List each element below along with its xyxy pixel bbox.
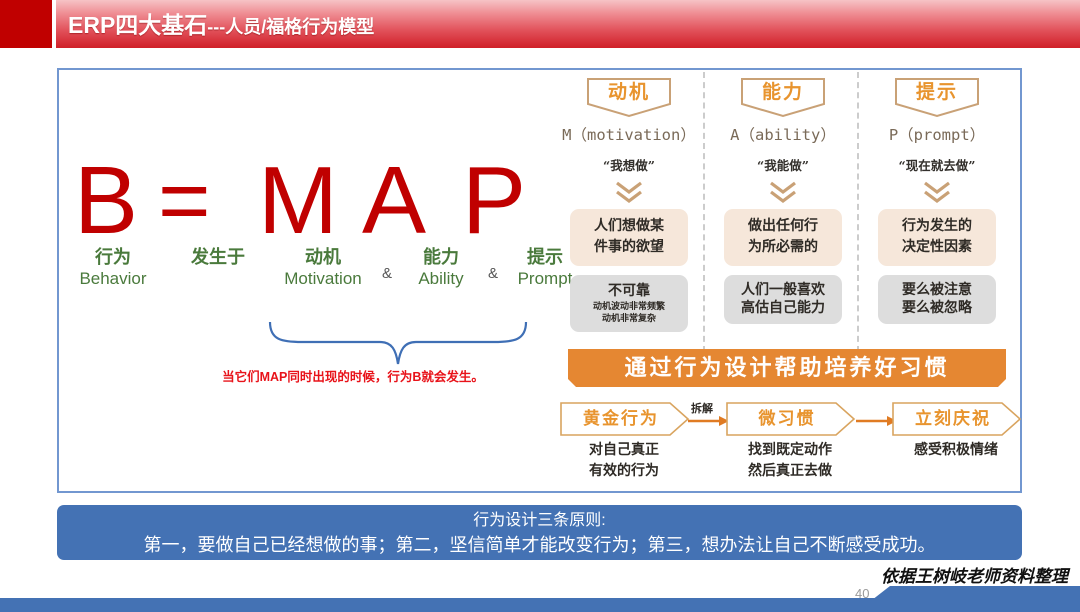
column-code-motivation: M（motivation） [554,123,704,145]
formula-label-occurs-cn: 发生于 [166,247,270,268]
column-negative-title-motivation: 不可靠 [608,283,650,299]
formula-letters-row: B = M A P [62,155,552,247]
flow-step-1-label: 黄金行为 [560,402,682,436]
habit-flow: 黄金行为 对自己真正有效的行为 拆解 微习惯 找到既定动作然后真正去做 立刻庆祝… [560,402,1020,492]
flow-step-1: 黄金行为 [560,402,690,436]
column-quote-ability: “我能做” [708,155,858,174]
column-negative-motivation: 不可靠 动机波动非常频繁动机非常复杂 [570,275,688,332]
column-banner-prompt: 提示 [893,76,981,118]
column-quote-motivation: “我想做” [554,155,704,174]
column-positive-prompt: 行为发生的决定性因素 [878,209,996,266]
page-title-sub: ---人员/福格行为模型 [207,17,374,37]
formula-label-behavior: 行为 Behavior [66,247,160,288]
column-negative-ability: 人们一般喜欢高估自己能力 [724,275,842,324]
orange-banner: 通过行为设计帮助培养好习惯 [568,349,1006,387]
formula-label-ability: 能力 Ability [398,247,484,288]
formula-label-behavior-en: Behavior [66,269,160,289]
header-left-accent-block [0,0,52,48]
formula-letter-a: A [362,155,424,247]
column-negative-detail-ability: 人们一般喜欢高估自己能力 [728,281,838,317]
column-motivation: 动机 M（motivation） “我想做” 人们想做某件事的欲望 不可靠 动机… [554,72,704,332]
flow-step-3: 立刻庆祝 [892,402,1022,436]
column-banner-label-ability: 能力 [739,76,827,110]
orange-banner-label: 通过行为设计帮助培养好习惯 [568,349,1006,387]
flow-step-2-label: 微习惯 [726,402,848,436]
formula-label-motivation: 动机 Motivation [268,247,378,288]
attribution-text: 依据王树岐老师资料整理 [881,562,1068,587]
column-negative-prompt: 要么被注意要么被忽略 [878,275,996,324]
column-banner-label-motivation: 动机 [585,76,673,110]
flow-step-1-sub: 对自己真正有效的行为 [557,440,691,482]
column-prompt: 提示 P（prompt） “现在就去做” 行为发生的决定性因素 要么被注意要么被… [862,72,1012,324]
down-chevrons-icon [768,181,798,203]
formula-label-behavior-cn: 行为 [66,247,160,268]
column-code-prompt: P（prompt） [862,123,1012,145]
column-code-ability: A（ability） [708,123,858,145]
column-banner-motivation: 动机 [585,76,673,118]
flow-step-3-label: 立刻庆祝 [892,402,1014,436]
flow-arrow-icon-1 [688,416,730,426]
footer-ribbon-bar [0,598,1080,612]
column-positive-motivation: 人们想做某件事的欲望 [570,209,688,266]
column-negative-detail-prompt: 要么被注意要么被忽略 [882,281,992,317]
principles-title: 行为设计三条原则: [57,510,1022,532]
principles-body: 第一，要做自己已经想做的事；第二，坚信简单才能改变行为；第三，想办法让自己不断感… [57,532,1022,558]
formula-label-occurs: 发生于 [166,247,270,268]
principles-banner: 行为设计三条原则: 第一，要做自己已经想做的事；第二，坚信简单才能改变行为；第三… [57,505,1022,560]
formula-label-ability-en: Ability [398,269,484,289]
down-chevrons-icon [922,181,952,203]
column-ability: 能力 A（ability） “我能做” 做出任何行为所必需的 人们一般喜欢高估自… [708,72,858,324]
formula-label-ability-cn: 能力 [398,247,484,268]
formula-equals-sign: = [158,155,209,247]
formula-label-motivation-cn: 动机 [268,247,378,268]
formula-letter-b: B [74,155,136,247]
down-chevrons-icon [614,181,644,203]
slide-root: ERP四大基石---人员/福格行为模型 B = M A P 行为 Behavio… [0,0,1080,612]
column-banner-label-prompt: 提示 [893,76,981,110]
formula-letter-m: M [258,155,336,247]
page-title: ERP四大基石---人员/福格行为模型 [68,8,374,42]
column-banner-ability: 能力 [739,76,827,118]
column-positive-ability: 做出任何行为所必需的 [724,209,842,266]
formula-label-motivation-en: Motivation [268,269,378,289]
flow-arrow-label-1: 拆解 [691,400,713,416]
flow-step-3-sub: 感受积极情绪 [889,440,1023,461]
flow-step-2: 微习惯 [726,402,856,436]
bmap-formula: B = M A P 行为 Behavior 发生于 动机 Motivation … [62,155,552,299]
column-quote-prompt: “现在就去做” [862,155,1012,174]
formula-ampersand-2: & [488,265,498,282]
formula-letter-p: P [462,155,524,247]
page-title-main: ERP四大基石 [68,12,207,38]
column-negative-detail-motivation: 动机波动非常频繁动机非常复杂 [574,302,684,325]
map-note: 当它们MAP同时出现的时候，行为B就会发生。 [188,366,518,385]
flow-step-2-sub: 找到既定动作然后真正去做 [723,440,857,482]
map-brace [268,320,528,368]
formula-ampersand-1: & [382,265,392,282]
